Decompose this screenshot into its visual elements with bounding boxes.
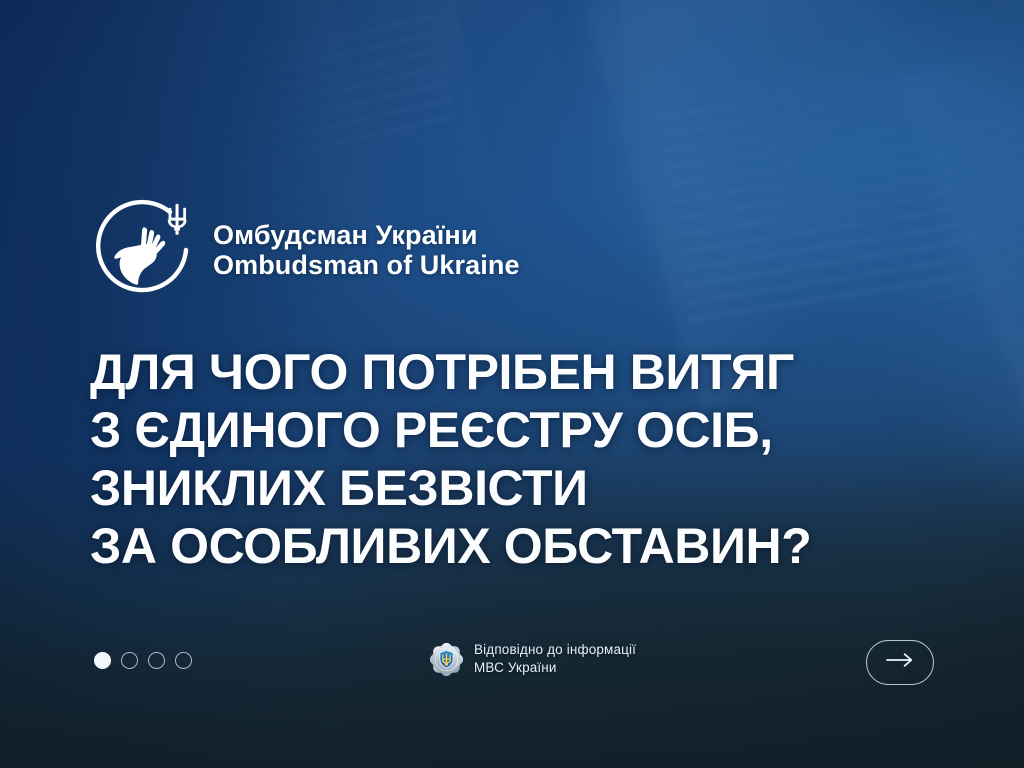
brand-logo-lockup: Омбудсман України Ombudsman of Ukraine [92,198,520,302]
next-slide-button[interactable] [866,640,934,685]
source-credit-text: Відповідно до інформації МВС України [474,641,636,678]
arrow-right-icon [885,652,915,673]
source-credit: Відповідно до інформації МВС України [430,641,636,678]
ombudsman-hand-dove-trident-icon [92,198,196,302]
brand-name-uk: Омбудсман України [213,220,520,250]
pagination-dots[interactable] [94,652,192,669]
mvs-police-star-badge-icon [430,643,463,676]
headline-line-3: ЗНИКЛИХ БЕЗВІСТИ [90,459,950,517]
headline: ДЛЯ ЧОГО ПОТРІБЕН ВИТЯГ З ЄДИНОГО РЕЄСТР… [90,343,950,575]
pagination-dot-3[interactable] [148,652,165,669]
brand-name-block: Омбудсман України Ombudsman of Ukraine [213,220,520,280]
source-credit-line-1: Відповідно до інформації [474,641,636,659]
pagination-dot-2[interactable] [121,652,138,669]
headline-line-2: З ЄДИНОГО РЕЄСТРУ ОСІБ, [90,401,950,459]
headline-line-1: ДЛЯ ЧОГО ПОТРІБЕН ВИТЯГ [90,343,950,401]
headline-line-4: ЗА ОСОБЛИВИХ ОБСТАВИН? [90,517,950,575]
pagination-dot-4[interactable] [175,652,192,669]
brand-name-en: Ombudsman of Ukraine [213,250,520,280]
slide-canvas: Омбудсман України Ombudsman of Ukraine Д… [0,0,1024,768]
source-credit-line-2: МВС України [474,659,636,677]
pagination-dot-1[interactable] [94,652,111,669]
